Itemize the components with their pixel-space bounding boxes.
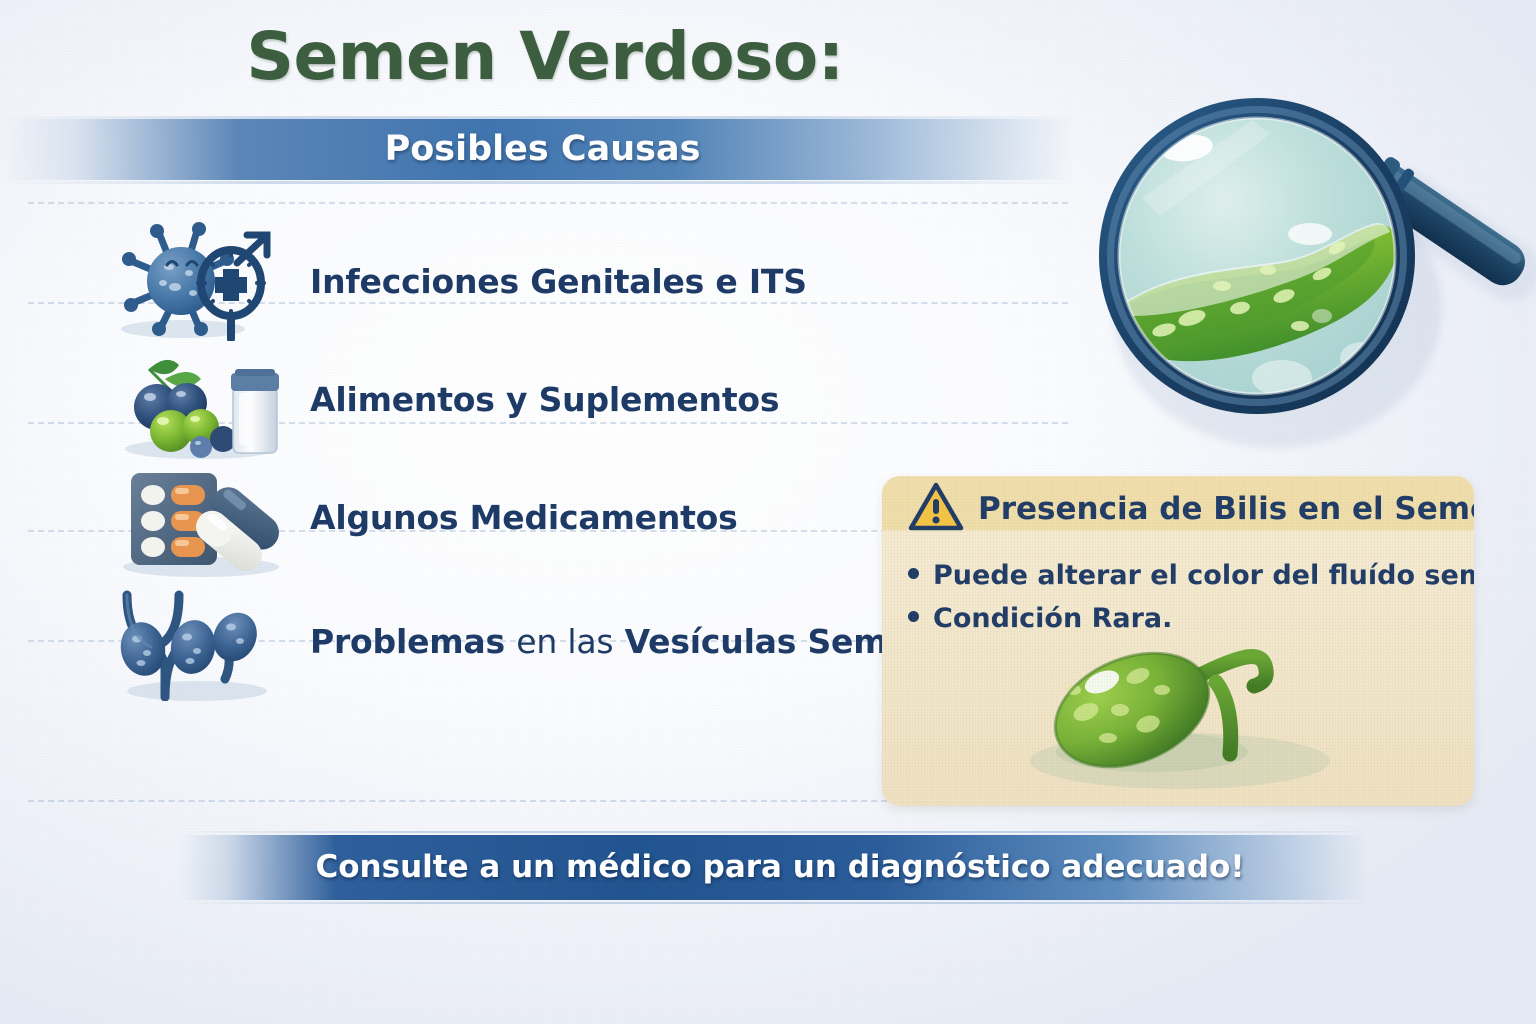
subtitle-band-bottom-edge bbox=[0, 181, 1085, 184]
bile-card-title: Presencia de Bilis en el Semen: bbox=[978, 491, 1474, 527]
bullet-dot-icon bbox=[908, 568, 919, 579]
list-item[interactable]: Algunos Medicamentos bbox=[100, 458, 1000, 576]
bile-card-divider bbox=[960, 540, 1450, 544]
list-item-label: Alimentos y Suplementos bbox=[310, 380, 779, 419]
footer-call-to-action: Consulte a un médico para un diagnóstico… bbox=[180, 835, 1380, 900]
subtitle-band: Posibles Causas bbox=[0, 119, 1085, 180]
list-item-label: Infecciones Genitales e ITS bbox=[310, 262, 807, 301]
list-item-label: Algunos Medicamentos bbox=[310, 498, 738, 537]
bullet-text: Puede alterar el color del fluído semina… bbox=[933, 560, 1474, 591]
footer-band: Consulte a un médico para un diagnóstico… bbox=[180, 835, 1380, 900]
footer-band-top-edge bbox=[180, 831, 1380, 833]
list-item[interactable]: Alimentos y Suplementos bbox=[100, 340, 1000, 458]
magnifying-glass-icon bbox=[1072, 58, 1536, 458]
bullet-item: Puede alterar el color del fluído semina… bbox=[908, 560, 1468, 591]
list-item[interactable]: Infecciones Genitales e ITS bbox=[100, 222, 1000, 340]
seminal-vesicles-icon bbox=[100, 582, 310, 700]
gallbladder-green-icon bbox=[1002, 626, 1402, 796]
page-subtitle: Posibles Causas bbox=[0, 119, 1085, 180]
list-item-label-light: en las bbox=[516, 622, 613, 661]
warning-triangle-icon bbox=[908, 482, 964, 537]
page-title: Semen Verdoso: bbox=[0, 18, 1090, 95]
bullet-dot-icon bbox=[908, 611, 919, 622]
virus-shield-male-icon bbox=[100, 222, 310, 340]
list-item-label-strong: Problemas bbox=[310, 622, 505, 661]
fruits-supplement-bottle-icon bbox=[100, 340, 310, 458]
bile-info-card: Presencia de Bilis en el Semen: Puede al… bbox=[882, 476, 1474, 806]
list-separator bbox=[28, 202, 1068, 204]
footer-band-bottom-edge bbox=[180, 902, 1380, 904]
list-item[interactable]: Problemas en las Vesículas Seminales bbox=[100, 582, 1000, 700]
infographic-poster: Semen Verdoso: Posibles Causas bbox=[0, 0, 1536, 1024]
pills-blister-capsule-icon bbox=[100, 458, 310, 576]
bile-card-header: Presencia de Bilis en el Semen: bbox=[882, 476, 1474, 542]
